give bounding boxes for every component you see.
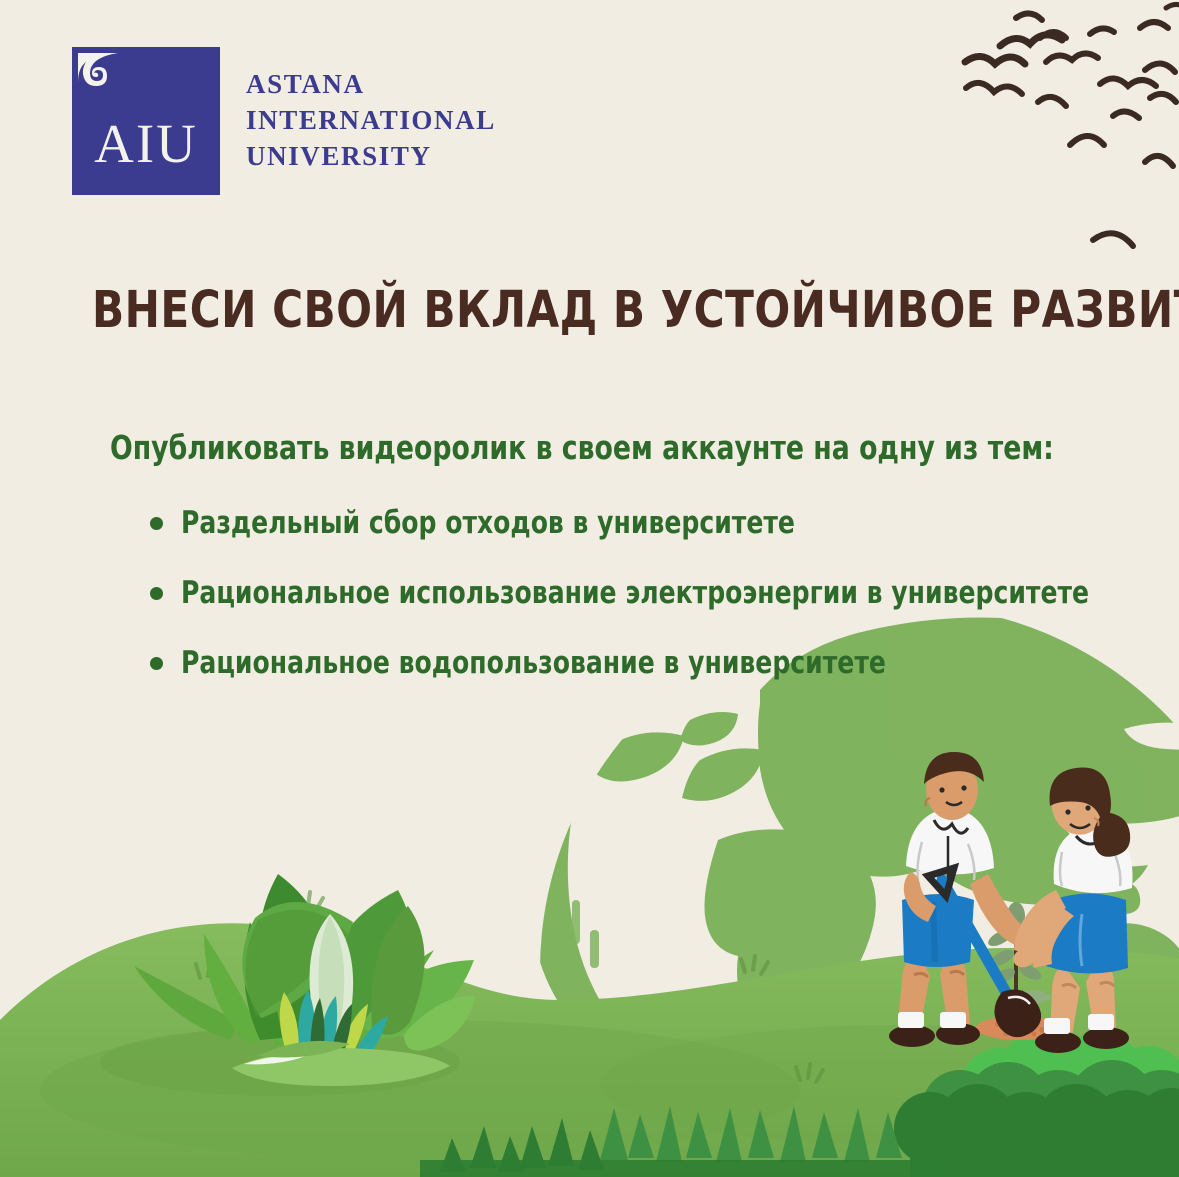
- flying-birds-flock: [965, 4, 1179, 246]
- logo-monogram: AIU: [94, 116, 198, 195]
- bullet-icon: [150, 657, 163, 670]
- kazakh-corner-ornament-icon: [76, 51, 120, 95]
- page-title: ВНЕСИ СВОЙ ВКЛАД В УСТОЙЧИВОЕ РАЗВИТИЕ A…: [92, 285, 1021, 336]
- two-children-planting-tree: [889, 752, 1064, 1047]
- list-item: Раздельный сбор отходов в университете: [150, 492, 1179, 554]
- girl-planting: [1011, 768, 1133, 1053]
- topic-label: Рациональное использование электроэнерги…: [181, 576, 1089, 610]
- logo-line-3: UNIVERSITY: [246, 139, 496, 175]
- logo-wordmark: ASTANA INTERNATIONAL UNIVERSITY: [246, 67, 496, 175]
- leafy-plant-cluster: [100, 874, 476, 1096]
- logo-line-1: ASTANA: [246, 67, 496, 103]
- list-item: Рациональное водопользование в университ…: [150, 632, 1179, 694]
- logo: AIU ASTANA INTERNATIONAL UNIVERSITY: [72, 47, 496, 195]
- bush-row: [420, 1028, 1179, 1177]
- bullet-icon: [150, 587, 163, 600]
- topic-list: Раздельный сбор отходов в университете Р…: [150, 492, 1179, 702]
- logo-mark: AIU: [72, 47, 220, 195]
- subtitle: Опубликовать видеоролик в своем аккаунте…: [110, 428, 1054, 468]
- list-item: Рациональное использование электроэнерги…: [150, 562, 1179, 624]
- logo-line-2: INTERNATIONAL: [246, 103, 496, 139]
- bullet-icon: [150, 517, 163, 530]
- poster-canvas: AIU ASTANA INTERNATIONAL UNIVERSITY ВНЕС…: [0, 0, 1179, 1177]
- topic-label: Раздельный сбор отходов в университете: [181, 506, 795, 540]
- grass-tufts: [196, 892, 1133, 1088]
- topic-label: Рациональное водопользование в университ…: [181, 646, 886, 680]
- hill-shape: [0, 923, 1179, 1177]
